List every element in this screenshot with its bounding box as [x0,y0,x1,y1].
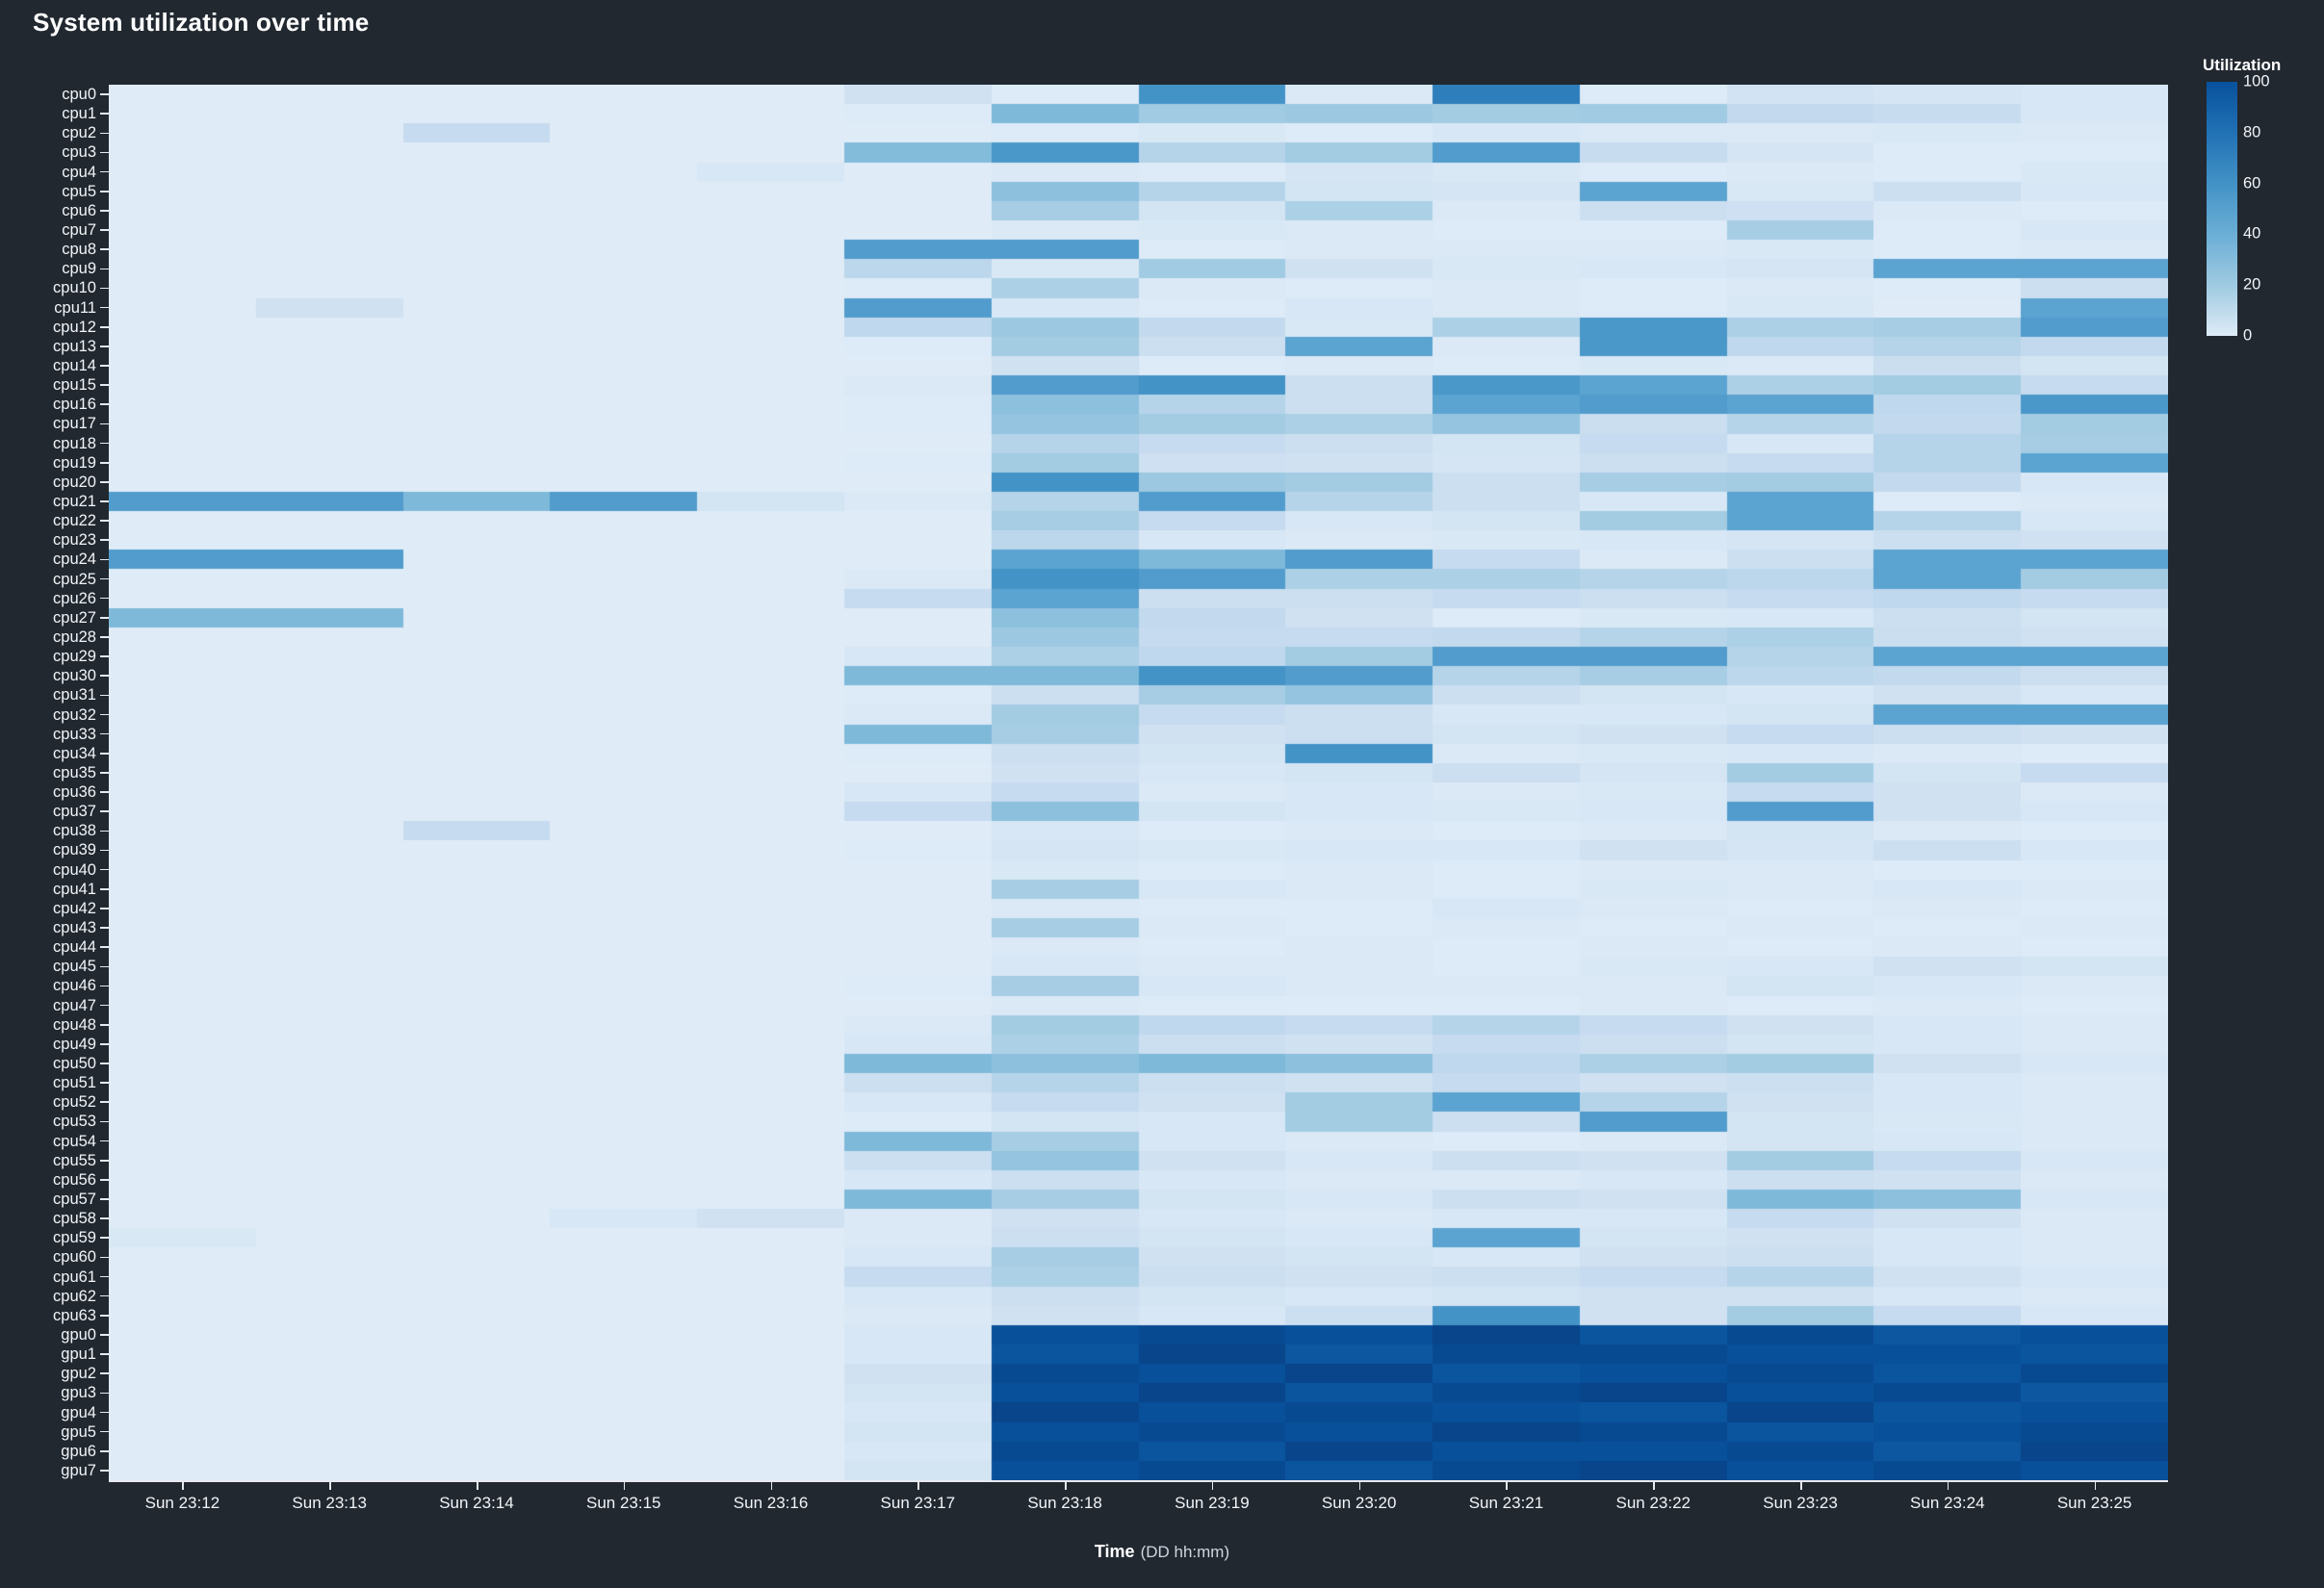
x-tick-label-4: Sun 23:16 [734,1494,809,1513]
x-tick-mark [1506,1480,1508,1490]
y-tick-cpu33: cpu33 [53,728,109,741]
y-tick-label: cpu59 [53,1231,96,1244]
y-tick-label: cpu22 [53,514,96,527]
y-tick-cpu4: cpu4 [62,166,109,179]
y-tick-label: cpu36 [53,785,96,799]
y-tick-label: gpu7 [61,1464,96,1477]
y-tick-mark [100,1217,109,1219]
y-tick-cpu62: cpu62 [53,1290,109,1303]
y-tick-mark [100,93,109,95]
y-tick-cpu30: cpu30 [53,669,109,682]
y-tick-mark [100,171,109,173]
y-tick-label: cpu54 [53,1135,96,1148]
y-tick-cpu60: cpu60 [53,1250,109,1264]
y-tick-gpu1: gpu1 [61,1347,109,1361]
y-tick-mark [100,617,109,619]
x-tick-label-8: Sun 23:20 [1322,1494,1397,1513]
y-tick-label: cpu46 [53,979,96,992]
x-tick-label-6: Sun 23:18 [1027,1494,1102,1513]
y-tick-cpu19: cpu19 [53,456,109,470]
y-tick-label: gpu2 [61,1367,96,1380]
y-tick-gpu6: gpu6 [61,1445,109,1458]
y-tick-cpu16: cpu16 [53,397,109,411]
y-tick-cpu42: cpu42 [53,902,109,915]
y-tick-cpu2: cpu2 [62,126,109,140]
x-tick-mark [1212,1480,1214,1490]
y-tick-mark [100,1237,109,1239]
y-tick-mark [100,1063,109,1064]
y-tick-mark [100,559,109,561]
y-tick-mark [100,695,109,697]
y-tick-label: cpu53 [53,1114,96,1128]
y-tick-label: cpu17 [53,417,96,430]
x-tick-label-1: Sun 23:13 [292,1494,367,1513]
x-tick-mark [1359,1480,1361,1490]
y-tick-label: cpu58 [53,1212,96,1225]
y-tick-mark [100,443,109,445]
heatmap-plot[interactable] [109,85,2168,1480]
y-tick-cpu57: cpu57 [53,1192,109,1206]
y-tick-label: gpu5 [61,1425,96,1439]
y-tick-cpu5: cpu5 [62,185,109,198]
y-tick-cpu40: cpu40 [53,863,109,877]
y-tick-cpu31: cpu31 [53,688,109,702]
y-tick-cpu52: cpu52 [53,1095,109,1109]
y-tick-label: cpu43 [53,921,96,935]
legend-tick-100: 100 [2243,73,2270,91]
y-tick-cpu13: cpu13 [53,340,109,353]
y-tick-mark [100,1179,109,1181]
x-axis-title-sub: (DD hh:mm) [1141,1543,1230,1561]
y-tick-cpu39: cpu39 [53,843,109,857]
y-tick-cpu22: cpu22 [53,514,109,527]
y-tick-label: cpu9 [62,262,96,275]
y-tick-mark [100,1005,109,1007]
y-tick-cpu34: cpu34 [53,747,109,760]
y-tick-cpu12: cpu12 [53,320,109,334]
y-tick-mark [100,1043,109,1045]
y-tick-label: cpu40 [53,863,96,877]
y-tick-label: cpu32 [53,708,96,722]
y-tick-cpu44: cpu44 [53,940,109,954]
legend: Utilization 100806040200 [2203,56,2318,345]
x-tick-mark [624,1480,626,1490]
y-tick-label: cpu38 [53,824,96,837]
y-tick-label: cpu35 [53,766,96,780]
x-tick-label-10: Sun 23:22 [1615,1494,1691,1513]
page-title: System utilization over time [33,8,369,38]
x-tick-mark [1653,1480,1655,1490]
y-tick-label: cpu31 [53,688,96,702]
x-tick-mark [477,1480,478,1490]
y-tick-mark [100,1334,109,1336]
y-tick-cpu41: cpu41 [53,883,109,896]
y-tick-mark [100,850,109,852]
y-tick-mark [100,1372,109,1374]
y-tick-mark [100,1431,109,1433]
x-tick-mark [1800,1480,1802,1490]
y-tick-label: cpu49 [53,1037,96,1051]
y-tick-cpu18: cpu18 [53,437,109,450]
legend-colorbar [2207,82,2237,336]
y-tick-gpu5: gpu5 [61,1425,109,1439]
y-tick-label: gpu6 [61,1445,96,1458]
y-tick-cpu27: cpu27 [53,611,109,625]
y-tick-mark [100,655,109,657]
y-tick-cpu24: cpu24 [53,552,109,566]
y-tick-label: cpu37 [53,805,96,818]
y-tick-cpu20: cpu20 [53,475,109,489]
y-tick-label: cpu42 [53,902,96,915]
x-tick-mark [917,1480,919,1490]
x-tick-label-2: Sun 23:14 [439,1494,514,1513]
legend-tick-0: 0 [2243,327,2252,346]
y-tick-cpu61: cpu61 [53,1270,109,1284]
y-tick-mark [100,1160,109,1162]
y-tick-cpu58: cpu58 [53,1212,109,1225]
y-tick-mark [100,403,109,405]
y-tick-label: cpu21 [53,495,96,508]
x-axis: Sun 23:12Sun 23:13Sun 23:14Sun 23:15Sun … [109,1480,2168,1538]
x-tick-mark [1948,1480,1950,1490]
y-tick-label: cpu57 [53,1192,96,1206]
y-tick-mark [100,888,109,890]
y-tick-label: cpu16 [53,397,96,411]
legend-tick-60: 60 [2243,174,2260,192]
y-tick-label: cpu23 [53,533,96,547]
y-tick-label: cpu14 [53,359,96,372]
y-tick-label: cpu39 [53,843,96,857]
y-tick-label: gpu3 [61,1386,96,1399]
y-tick-cpu51: cpu51 [53,1076,109,1089]
y-tick-mark [100,520,109,522]
y-tick-cpu26: cpu26 [53,592,109,605]
y-tick-cpu50: cpu50 [53,1057,109,1070]
y-tick-mark [100,1393,109,1395]
y-tick-mark [100,636,109,638]
y-tick-mark [100,191,109,192]
y-tick-label: cpu2 [62,126,96,140]
x-tick-label-12: Sun 23:24 [1910,1494,1985,1513]
y-tick-mark [100,423,109,425]
x-tick-mark [1065,1480,1067,1490]
y-tick-label: cpu48 [53,1018,96,1032]
heatmap-canvas[interactable] [109,85,2168,1480]
y-tick-cpu59: cpu59 [53,1231,109,1244]
y-tick-mark [100,1315,109,1317]
y-tick-label: cpu8 [62,243,96,256]
y-tick-cpu45: cpu45 [53,960,109,973]
y-tick-cpu36: cpu36 [53,785,109,799]
y-tick-mark [100,1353,109,1355]
y-tick-mark [100,733,109,735]
y-tick-label: cpu55 [53,1154,96,1167]
legend-tick-40: 40 [2243,225,2260,243]
y-tick-mark [100,1024,109,1026]
y-tick-mark [100,1412,109,1414]
y-tick-label: cpu11 [54,301,96,315]
y-tick-mark [100,966,109,968]
y-tick-label: gpu0 [61,1328,96,1342]
y-tick-label: cpu41 [53,883,96,896]
y-tick-label: cpu15 [53,378,96,392]
y-tick-label: cpu18 [53,437,96,450]
y-tick-mark [100,753,109,755]
y-tick-label: cpu47 [53,999,96,1012]
y-tick-mark [100,210,109,212]
y-tick-cpu3: cpu3 [62,145,109,159]
y-tick-label: cpu10 [53,281,96,295]
y-tick-cpu46: cpu46 [53,979,109,992]
y-tick-mark [100,307,109,309]
y-tick-mark [100,1101,109,1103]
y-tick-mark [100,384,109,386]
y-tick-mark [100,772,109,774]
y-tick-mark [100,1470,109,1472]
y-tick-label: cpu24 [53,552,96,566]
y-tick-label: cpu63 [53,1309,96,1322]
x-tick-label-0: Sun 23:12 [145,1494,220,1513]
y-tick-label: cpu7 [62,223,96,237]
y-axis: cpu0cpu1cpu2cpu3cpu4cpu5cpu6cpu7cpu8cpu9… [0,85,109,1480]
y-tick-label: cpu51 [53,1076,96,1089]
y-tick-cpu17: cpu17 [53,417,109,430]
y-tick-mark [100,248,109,250]
y-tick-label: cpu0 [62,88,96,101]
y-tick-cpu11: cpu11 [54,301,109,315]
y-tick-mark [100,598,109,600]
x-tick-label-5: Sun 23:17 [881,1494,956,1513]
y-tick-mark [100,481,109,483]
y-tick-cpu28: cpu28 [53,630,109,644]
y-tick-cpu0: cpu0 [62,88,109,101]
x-tick-label-9: Sun 23:21 [1469,1494,1544,1513]
y-tick-mark [100,133,109,135]
y-tick-cpu1: cpu1 [62,107,109,120]
y-tick-label: cpu60 [53,1250,96,1264]
y-tick-label: cpu6 [62,204,96,218]
legend-tick-20: 20 [2243,276,2260,295]
x-axis-line [109,1480,2168,1482]
y-tick-mark [100,869,109,871]
y-tick-cpu14: cpu14 [53,359,109,372]
y-tick-label: cpu29 [53,650,96,663]
y-tick-cpu6: cpu6 [62,204,109,218]
y-tick-cpu25: cpu25 [53,573,109,586]
y-tick-cpu53: cpu53 [53,1114,109,1128]
x-tick-label-3: Sun 23:15 [586,1494,661,1513]
y-tick-label: cpu27 [53,611,96,625]
y-tick-cpu10: cpu10 [53,281,109,295]
y-tick-label: cpu13 [53,340,96,353]
y-tick-mark [100,113,109,115]
y-tick-mark [100,1276,109,1278]
y-tick-label: cpu50 [53,1057,96,1070]
y-tick-label: cpu20 [53,475,96,489]
y-tick-cpu29: cpu29 [53,650,109,663]
y-tick-cpu63: cpu63 [53,1309,109,1322]
y-tick-label: gpu4 [61,1406,96,1420]
y-tick-mark [100,365,109,367]
y-tick-cpu49: cpu49 [53,1037,109,1051]
y-tick-gpu2: gpu2 [61,1367,109,1380]
y-tick-mark [100,269,109,270]
legend-tick-80: 80 [2243,123,2260,141]
y-tick-gpu4: gpu4 [61,1406,109,1420]
y-tick-mark [100,229,109,231]
y-tick-cpu47: cpu47 [53,999,109,1012]
y-tick-mark [100,1450,109,1452]
y-tick-cpu32: cpu32 [53,708,109,722]
y-tick-label: cpu28 [53,630,96,644]
y-tick-label: cpu25 [53,573,96,586]
y-tick-mark [100,908,109,909]
y-tick-mark [100,791,109,793]
y-tick-label: cpu62 [53,1290,96,1303]
y-tick-cpu7: cpu7 [62,223,109,237]
y-tick-label: cpu3 [62,145,96,159]
y-tick-cpu8: cpu8 [62,243,109,256]
y-tick-mark [100,1198,109,1200]
y-tick-gpu0: gpu0 [61,1328,109,1342]
y-tick-cpu54: cpu54 [53,1135,109,1148]
y-tick-label: cpu34 [53,747,96,760]
x-axis-title-main: Time [1095,1542,1135,1561]
y-tick-mark [100,675,109,677]
y-tick-mark [100,831,109,832]
y-tick-label: cpu61 [53,1270,96,1284]
y-tick-label: gpu1 [61,1347,96,1361]
y-tick-mark [100,1082,109,1084]
y-tick-cpu37: cpu37 [53,805,109,818]
x-tick-mark [771,1480,773,1490]
y-tick-label: cpu1 [62,107,96,120]
y-tick-mark [100,539,109,541]
y-tick-mark [100,1257,109,1259]
y-tick-mark [100,578,109,580]
y-tick-mark [100,810,109,812]
y-tick-cpu56: cpu56 [53,1173,109,1187]
y-tick-mark [100,462,109,464]
y-tick-label: cpu12 [53,320,96,334]
y-tick-gpu7: gpu7 [61,1464,109,1477]
y-tick-gpu3: gpu3 [61,1386,109,1399]
x-tick-label-7: Sun 23:19 [1175,1494,1250,1513]
y-tick-mark [100,346,109,347]
y-tick-cpu55: cpu55 [53,1154,109,1167]
y-tick-cpu21: cpu21 [53,495,109,508]
y-tick-label: cpu56 [53,1173,96,1187]
y-tick-label: cpu5 [62,185,96,198]
y-tick-label: cpu45 [53,960,96,973]
x-tick-mark [329,1480,331,1490]
y-tick-mark [100,1121,109,1123]
y-tick-mark [100,152,109,154]
x-axis-title: Time(DD hh:mm) [0,1542,2324,1562]
y-tick-mark [100,1295,109,1297]
y-tick-label: cpu44 [53,940,96,954]
x-tick-mark [2095,1480,2097,1490]
y-tick-cpu35: cpu35 [53,766,109,780]
y-tick-cpu43: cpu43 [53,921,109,935]
y-tick-mark [100,500,109,502]
y-tick-cpu15: cpu15 [53,378,109,392]
y-tick-mark [100,1140,109,1142]
y-tick-cpu38: cpu38 [53,824,109,837]
y-tick-mark [100,946,109,948]
y-tick-cpu23: cpu23 [53,533,109,547]
y-tick-label: cpu33 [53,728,96,741]
y-tick-cpu48: cpu48 [53,1018,109,1032]
y-tick-cpu9: cpu9 [62,262,109,275]
y-tick-mark [100,288,109,290]
y-tick-mark [100,986,109,987]
y-tick-label: cpu19 [53,456,96,470]
y-tick-label: cpu4 [62,166,96,179]
y-tick-mark [100,927,109,929]
y-tick-label: cpu30 [53,669,96,682]
x-tick-mark [182,1480,184,1490]
y-tick-mark [100,714,109,716]
y-tick-label: cpu52 [53,1095,96,1109]
y-tick-mark [100,326,109,328]
x-tick-label-13: Sun 23:25 [2057,1494,2132,1513]
y-tick-label: cpu26 [53,592,96,605]
x-tick-label-11: Sun 23:23 [1763,1494,1838,1513]
